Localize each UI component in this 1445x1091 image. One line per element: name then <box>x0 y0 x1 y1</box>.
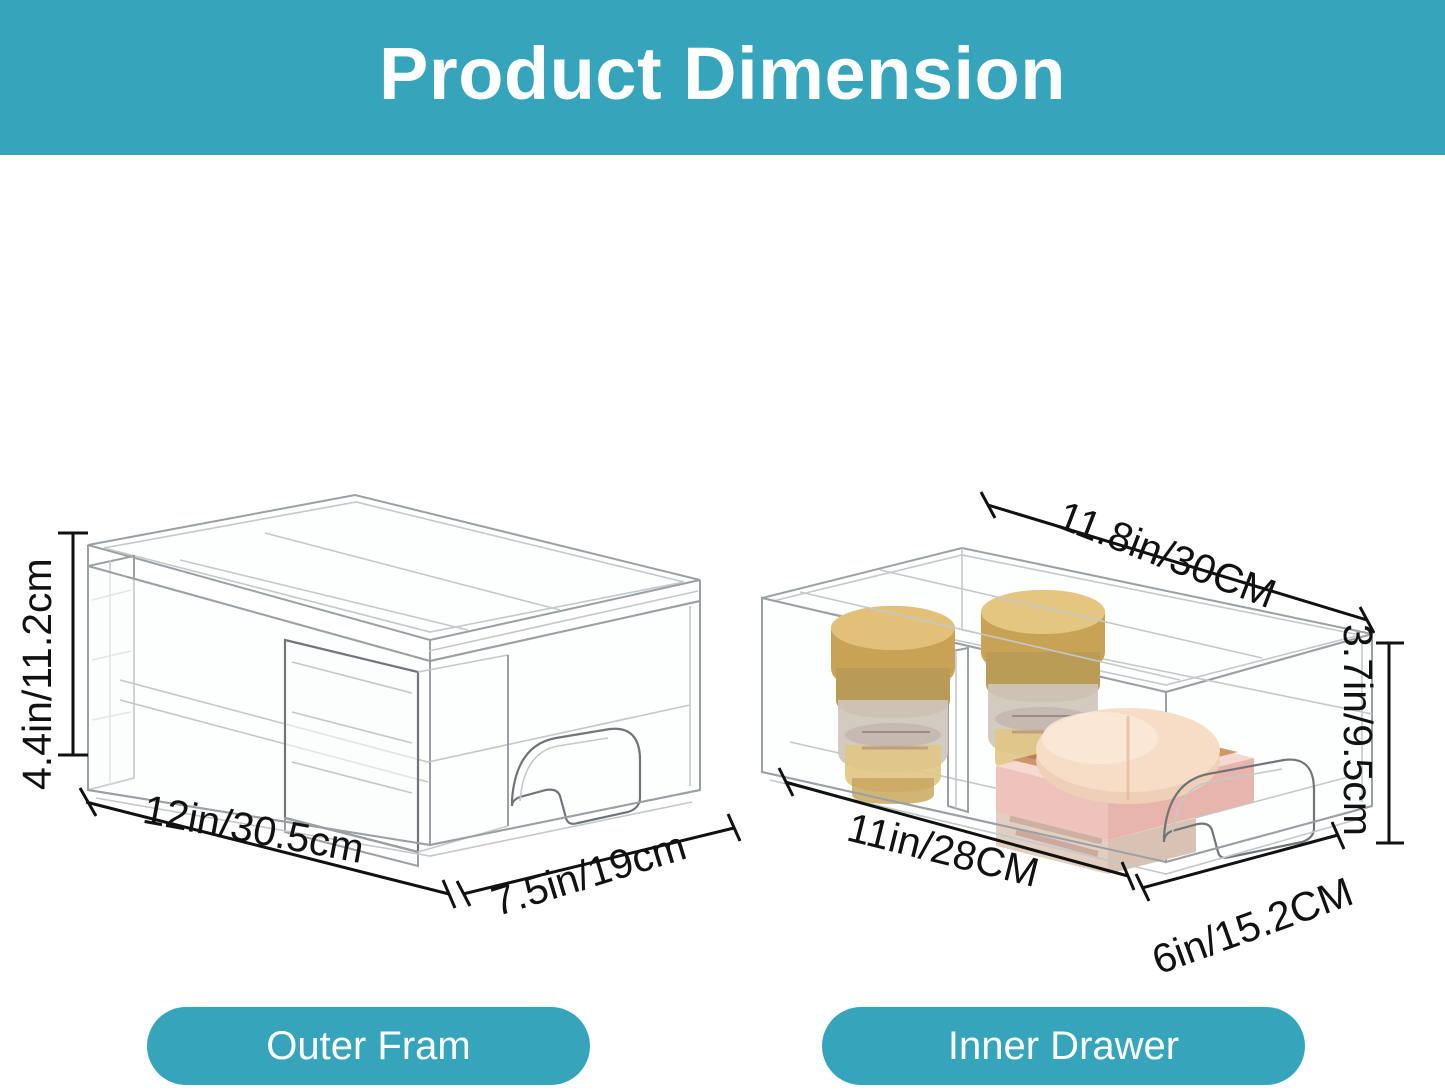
cosmetic-jar-left <box>831 606 955 804</box>
outer-frame-height-label: 4.4in/11.2cm <box>14 558 61 790</box>
label-pill-outer-frame: Outer Fram <box>147 1007 590 1085</box>
inner-drawer-height-label: 3.7in/9.5cm <box>1334 624 1381 836</box>
product-dimension-infographic: Product Dimension <box>0 0 1445 1091</box>
label-pill-inner-drawer: Inner Drawer <box>822 1007 1305 1085</box>
